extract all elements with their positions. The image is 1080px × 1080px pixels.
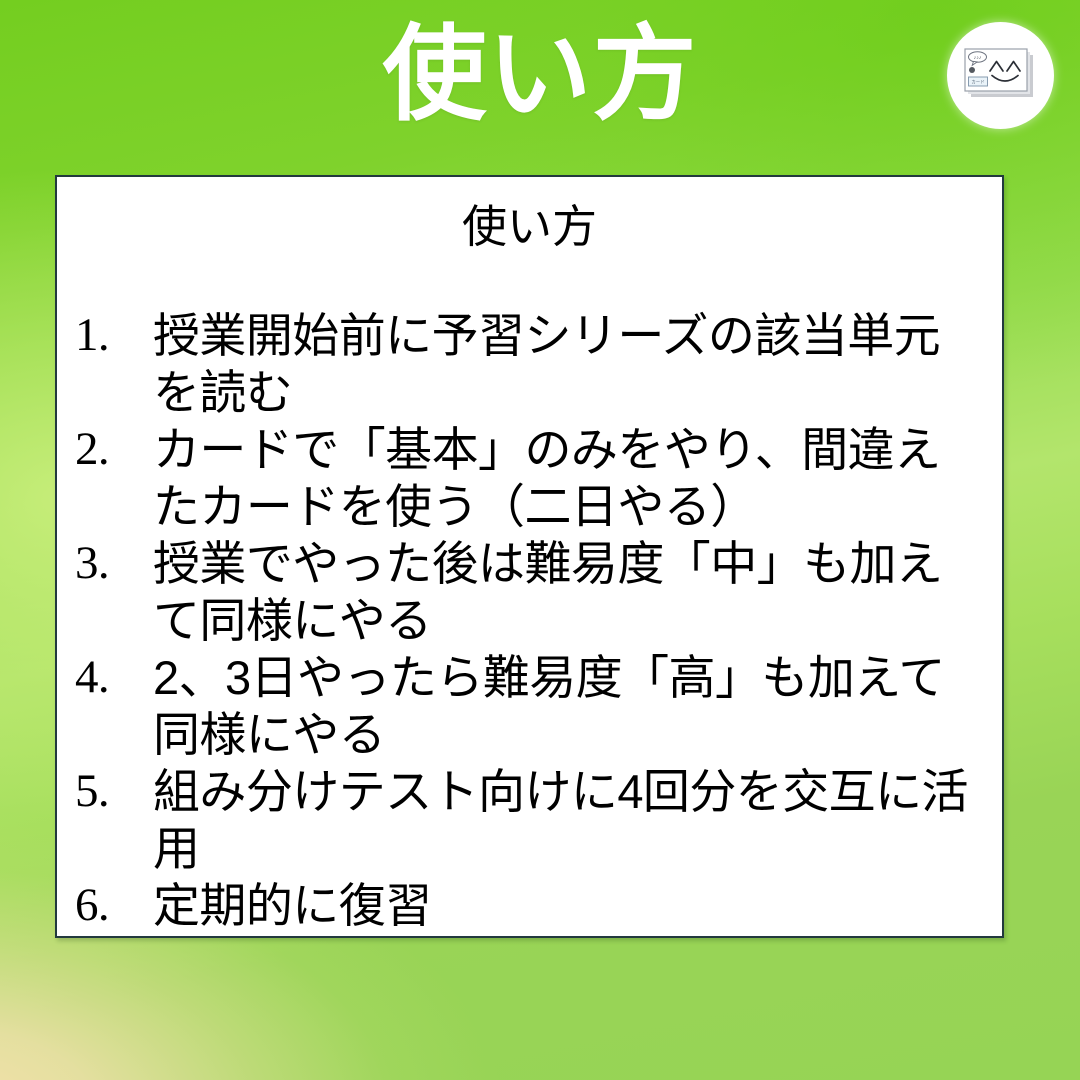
list-item: 5. 組み分けテスト向けに4回分を交互に活用 (67, 763, 992, 877)
list-item: 6. 定期的に復習 (67, 877, 992, 934)
svg-text:♪♪♪: ♪♪♪ (974, 55, 982, 61)
step-text: 授業開始前に予習シリーズの該当単元を読む (153, 307, 992, 421)
list-item: 2. カードで「基本」のみをやり、間違えたカードを使う（二日やる） (67, 421, 992, 535)
step-number: 2. (67, 421, 153, 478)
step-text: 定期的に復習 (153, 877, 992, 934)
list-item: 4. 2、3日やったら難易度「高」も加えて同様にやる (67, 649, 992, 763)
page-title: 使い方 (0, 14, 1080, 137)
flashcard-smiley-logo-icon: ♪♪♪ カード (947, 22, 1054, 129)
slide-canvas: 使い方 ♪♪♪ カード 使い方 1. (0, 0, 1080, 1080)
step-text: 2、3日やったら難易度「高」も加えて同様にやる (153, 649, 992, 763)
step-text: 授業でやった後は難易度「中」も加えて同様にやる (153, 535, 992, 649)
step-text: カードで「基本」のみをやり、間違えたカードを使う（二日やる） (153, 421, 992, 535)
list-item: 1. 授業開始前に予習シリーズの該当単元を読む (67, 307, 992, 421)
steps-list: 1. 授業開始前に予習シリーズの該当単元を読む 2. カードで「基本」のみをやり… (67, 307, 992, 934)
list-item: 3. 授業でやった後は難易度「中」も加えて同様にやる (67, 535, 992, 649)
step-number: 1. (67, 307, 153, 364)
card-heading: 使い方 (57, 199, 1002, 255)
content-card: 使い方 1. 授業開始前に予習シリーズの該当単元を読む 2. カードで「基本」の… (55, 175, 1004, 938)
step-text: 組み分けテスト向けに4回分を交互に活用 (153, 763, 992, 877)
step-number: 4. (67, 649, 153, 706)
step-number: 3. (67, 535, 153, 592)
step-number: 6. (67, 877, 153, 934)
step-number: 5. (67, 763, 153, 820)
